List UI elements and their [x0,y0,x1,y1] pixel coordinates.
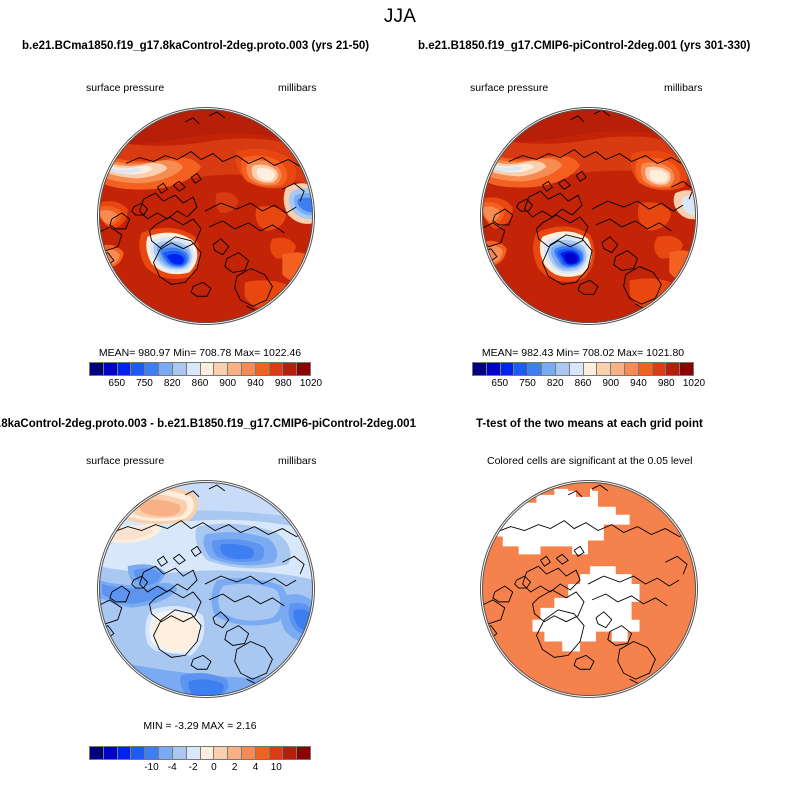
colorbar-segment [297,363,310,375]
panel-title-ttest: T-test of the two means at each grid poi… [476,418,703,430]
colorbar-segment [556,363,570,375]
colorbar-tick-label: 980 [658,378,675,389]
colorbar-tick-label: 940 [630,378,647,389]
colorbar-segment [201,747,215,759]
map-ttest-significance [480,480,698,698]
map-difference [97,480,315,698]
colorbar-tick-label: 1020 [300,378,322,389]
variable-label-top-left: surface pressure [86,82,164,94]
colorbar-tick-label: 4 [253,762,259,773]
colorbar-segment [242,363,256,375]
colorbar-tick-label: 10 [271,762,282,773]
colorbar-segment [187,747,201,759]
unit-label-difference: millibars [278,455,317,467]
colorbar-segment [653,363,667,375]
map-top-left [97,107,315,325]
colorbar-segment [584,363,598,375]
colorbar-segment [611,363,625,375]
colorbar-segment [173,363,187,375]
polar-map-svg-ttest [481,481,697,697]
map-top-right [480,107,698,325]
variable-label-difference: surface pressure [86,455,164,467]
colorbar-segment [159,747,173,759]
colorbar-tick-label: 750 [136,378,153,389]
colorbar-segment [173,747,187,759]
colorbar-tick-label: 820 [164,378,181,389]
colorbar-segment [90,747,104,759]
colorbar-gradient-top-left [89,362,311,376]
colorbar-tick-label: 980 [275,378,292,389]
page-title: JJA [0,6,800,28]
colorbar-segment [118,747,132,759]
colorbar-segment [680,363,693,375]
polar-map-svg-top-right [481,108,697,324]
colorbar-segment [214,747,228,759]
colorbar-tick-label: -2 [189,762,198,773]
colorbar-segment [145,747,159,759]
colorbar-segment [487,363,501,375]
colorbar-tick-label: 820 [547,378,564,389]
colorbar-gradient-difference [89,746,311,760]
colorbar-segment [90,363,104,375]
colorbar-tick-label: -10 [144,762,158,773]
panel-title-difference: .f19_g17.8kaControl-2deg.proto.003 - b.e… [0,418,416,430]
colorbar-segment [283,363,297,375]
colorbar-segment [283,747,297,759]
colorbar-tick-label: 900 [219,378,236,389]
significance-caption: Colored cells are significant at the 0.0… [487,455,692,467]
unit-label-top-right: millibars [664,82,703,94]
colorbar-tick-label: 860 [192,378,209,389]
colorbar-tick-label: 0 [211,762,217,773]
stats-difference: MIN = -3.29 MAX = 2.16 [89,720,311,732]
colorbar-segment [104,747,118,759]
colorbar-gradient-top-right [472,362,694,376]
colorbar-segment [228,363,242,375]
colorbar-segment [639,363,653,375]
colorbar-segment [514,363,528,375]
colorbar-segment [256,747,270,759]
colorbar-segment [597,363,611,375]
colorbar-segment [159,363,173,375]
colorbar-segment [570,363,584,375]
colorbar-tick-label: 900 [602,378,619,389]
stats-top-right: MEAN= 982.43 Min= 708.02 Max= 1021.80 [472,347,694,359]
colorbar-segment [242,747,256,759]
colorbar-segment [625,363,639,375]
colorbar-segment [145,363,159,375]
colorbar-tick-label: 2 [232,762,238,773]
colorbar-tick-label: 750 [519,378,536,389]
colorbar-top-right: 6507508208609009409801020 [472,362,694,394]
colorbar-segment [131,747,145,759]
panel-title-top-left: b.e21.BCma1850.f19_g17.8kaControl-2deg.p… [22,40,369,52]
colorbar-segment [131,363,145,375]
colorbar-segment [270,363,284,375]
colorbar-segment [473,363,487,375]
unit-label-top-left: millibars [278,82,317,94]
colorbar-tick-label: 650 [108,378,125,389]
panel-title-top-right: b.e21.B1850.f19_g17.CMIP6-piControl-2deg… [418,40,750,52]
colorbar-tick-label: -4 [168,762,177,773]
colorbar-segment [542,363,556,375]
colorbar-ticks-top-left: 6507508208609009409801020 [89,378,311,394]
colorbar-segment [270,747,284,759]
colorbar-difference: -10-4-202410 [89,746,311,778]
polar-map-svg-difference [98,481,314,697]
colorbar-tick-label: 860 [575,378,592,389]
colorbar-segment [528,363,542,375]
polar-map-svg-top-left [98,108,314,324]
colorbar-top-left: 6507508208609009409801020 [89,362,311,394]
colorbar-segment [201,363,215,375]
stats-top-left: MEAN= 980.97 Min= 708.78 Max= 1022.46 [89,347,311,359]
colorbar-segment [501,363,515,375]
colorbar-tick-label: 940 [247,378,264,389]
colorbar-segment [187,363,201,375]
variable-label-top-right: surface pressure [470,82,548,94]
colorbar-segment [256,363,270,375]
colorbar-segment [104,363,118,375]
colorbar-ticks-top-right: 6507508208609009409801020 [472,378,694,394]
colorbar-segment [666,363,680,375]
colorbar-segment [214,363,228,375]
colorbar-ticks-difference: -10-4-202410 [89,762,311,778]
colorbar-segment [297,747,310,759]
colorbar-segment [118,363,132,375]
colorbar-tick-label: 1020 [683,378,705,389]
colorbar-segment [228,747,242,759]
colorbar-tick-label: 650 [491,378,508,389]
